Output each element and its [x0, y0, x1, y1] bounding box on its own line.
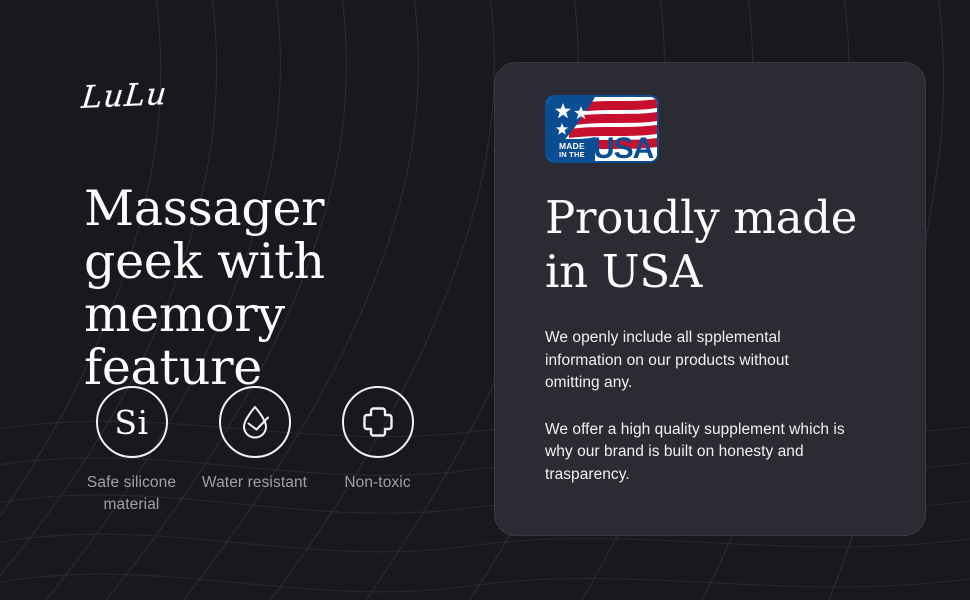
card-headline: Proudly made in USA [545, 191, 885, 299]
made-in-usa-card: MADE IN THE USA Proudly made in USA We o… [494, 62, 926, 536]
left-panel: LuLu Massager geek with memory feature S… [0, 0, 470, 600]
svg-text:USA: USA [593, 132, 654, 161]
water-droplet-check-icon [219, 386, 291, 458]
card-paragraph: We offer a high quality supplement which… [545, 419, 845, 487]
feature-water-resistant: Water resistant [193, 386, 316, 494]
made-in-usa-flag-badge-icon: MADE IN THE USA [545, 95, 659, 163]
feature-label: Non-toxic [344, 472, 410, 494]
svg-text:IN THE: IN THE [559, 150, 585, 159]
si-symbol-text: Si [114, 406, 148, 439]
silicone-si-icon: Si [96, 386, 168, 458]
feature-label: Safe silicone material [70, 472, 193, 516]
feature-label: Water resistant [202, 472, 307, 494]
feature-non-toxic: Non-toxic [316, 386, 439, 494]
promo-banner: LuLu Massager geek with memory feature S… [0, 0, 970, 600]
brand-logo: LuLu [80, 76, 169, 116]
feature-safe-silicone: Si Safe silicone material [70, 386, 193, 516]
medical-cross-icon [342, 386, 414, 458]
left-headline: Massager geek with memory feature [84, 182, 444, 394]
feature-icon-row: Si Safe silicone material Water resistan… [70, 386, 470, 516]
card-paragraph: We openly include all spplemental inform… [545, 327, 845, 395]
